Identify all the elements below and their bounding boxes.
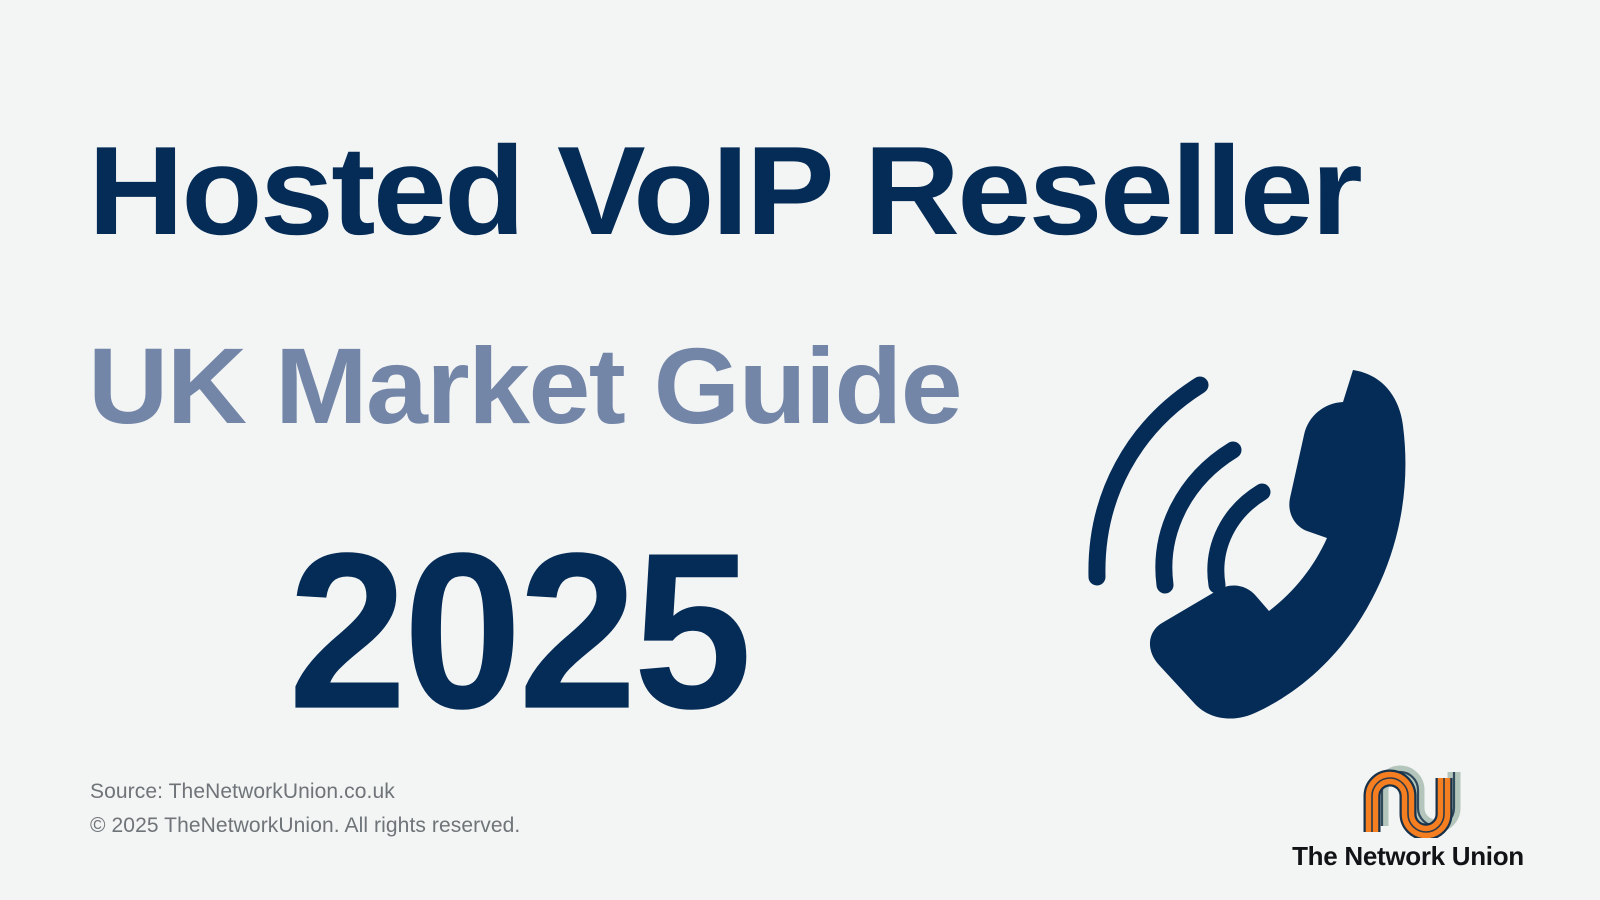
brand-name: The Network Union — [1292, 842, 1524, 871]
year-block: 2025 — [288, 520, 848, 730]
ringing-phone-icon — [1055, 352, 1415, 724]
copyright-line: © 2025 TheNetworkUnion. All rights reser… — [90, 809, 520, 843]
brand-logo: The Network Union — [1258, 752, 1558, 878]
year-value: 2025 — [288, 520, 859, 743]
nu-monogram-icon — [1352, 752, 1464, 838]
poster-canvas: Hosted VoIP Reseller UK Market Guide 202… — [0, 0, 1600, 900]
footer-credits: Source: TheNetworkUnion.co.uk © 2025 The… — [90, 775, 520, 843]
page-title: Hosted VoIP Reseller — [88, 128, 1586, 254]
source-line: Source: TheNetworkUnion.co.uk — [90, 775, 520, 809]
